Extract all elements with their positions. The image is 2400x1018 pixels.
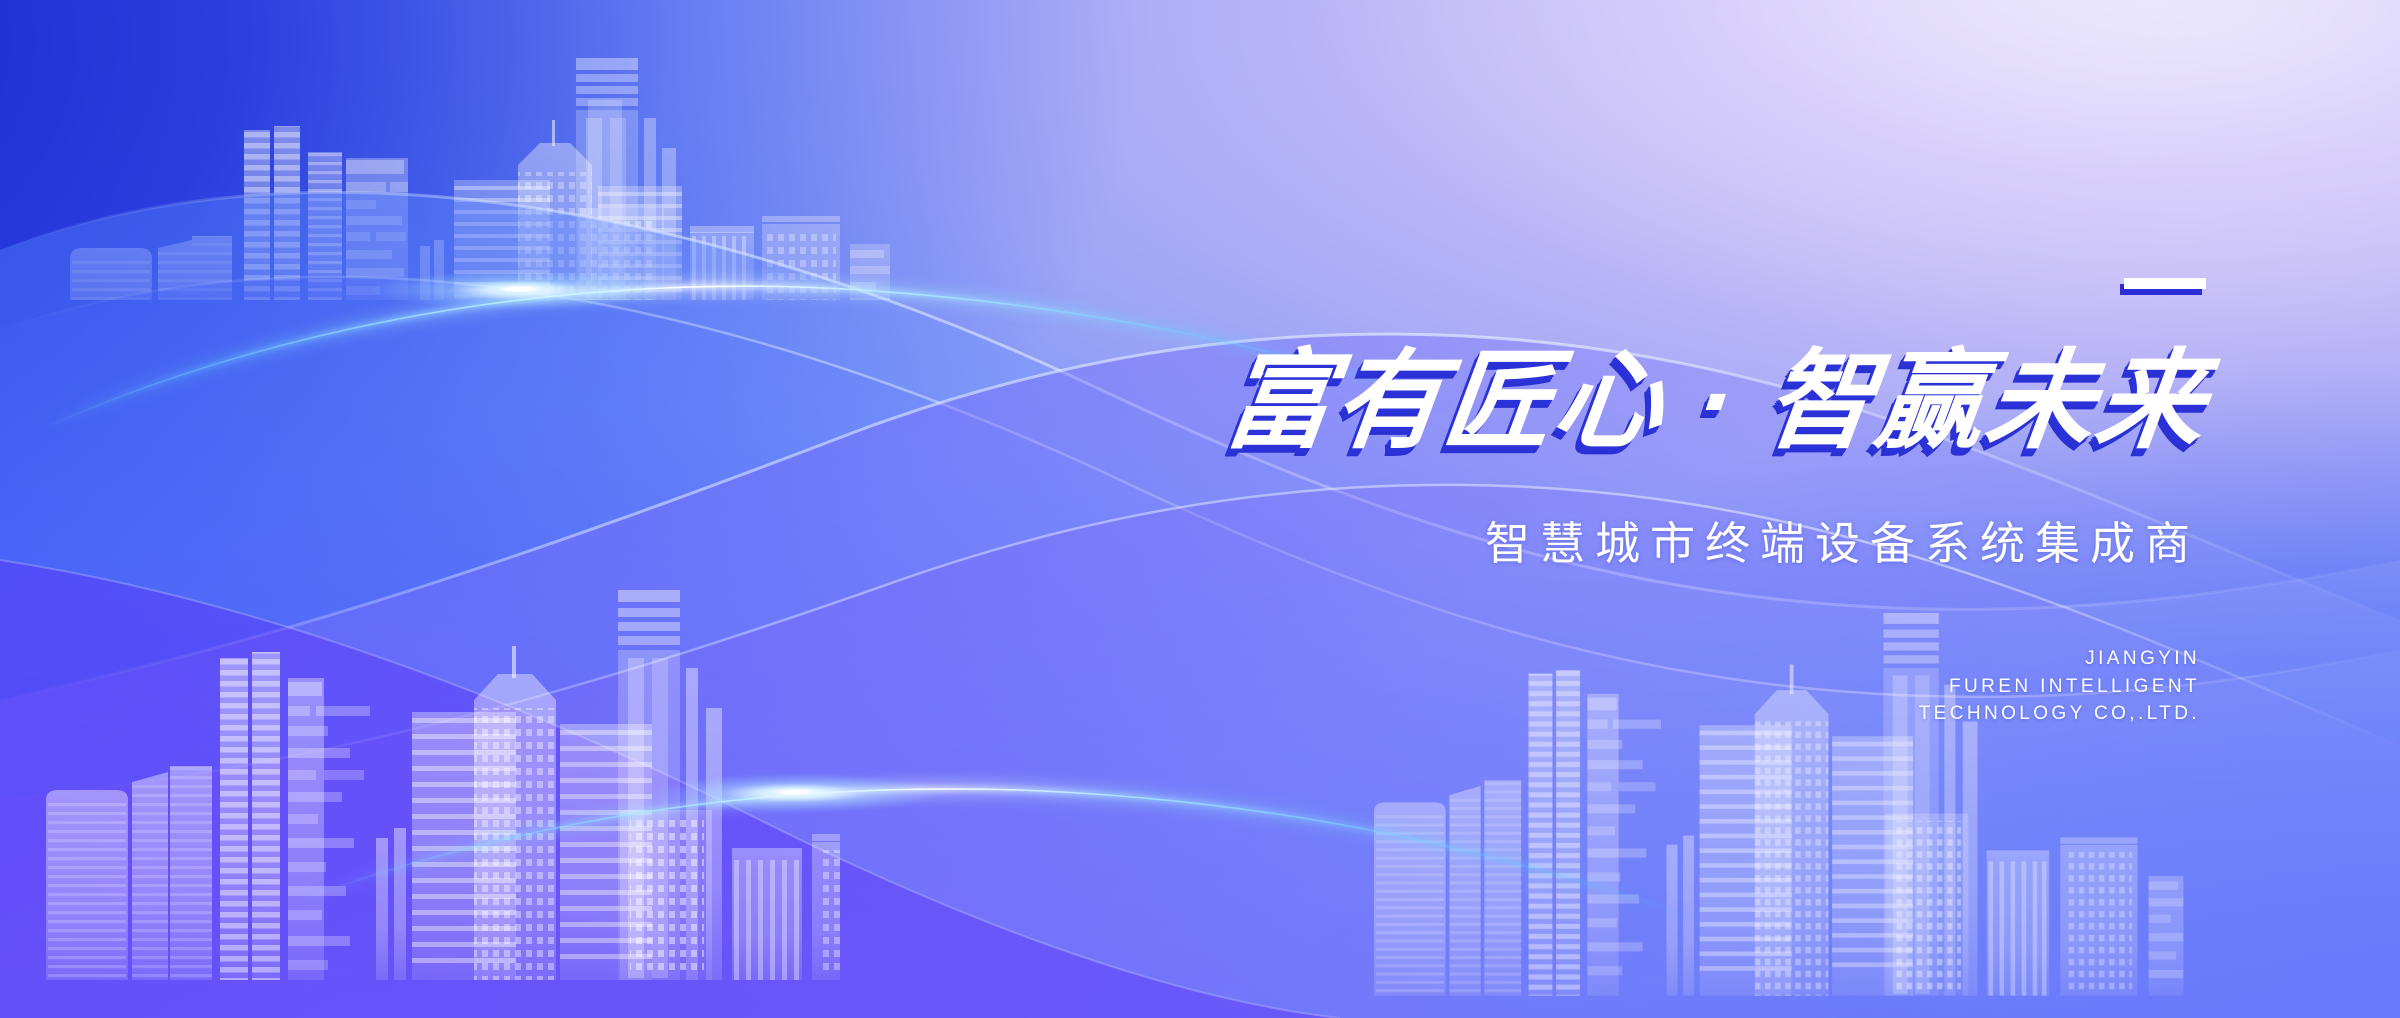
banner-canvas: 富有匠心 · 智赢未来 智慧城市终端设备系统集成商 JIANGYIN FUREN… [0, 0, 2400, 1018]
glow-arc-icon [0, 0, 2400, 1018]
